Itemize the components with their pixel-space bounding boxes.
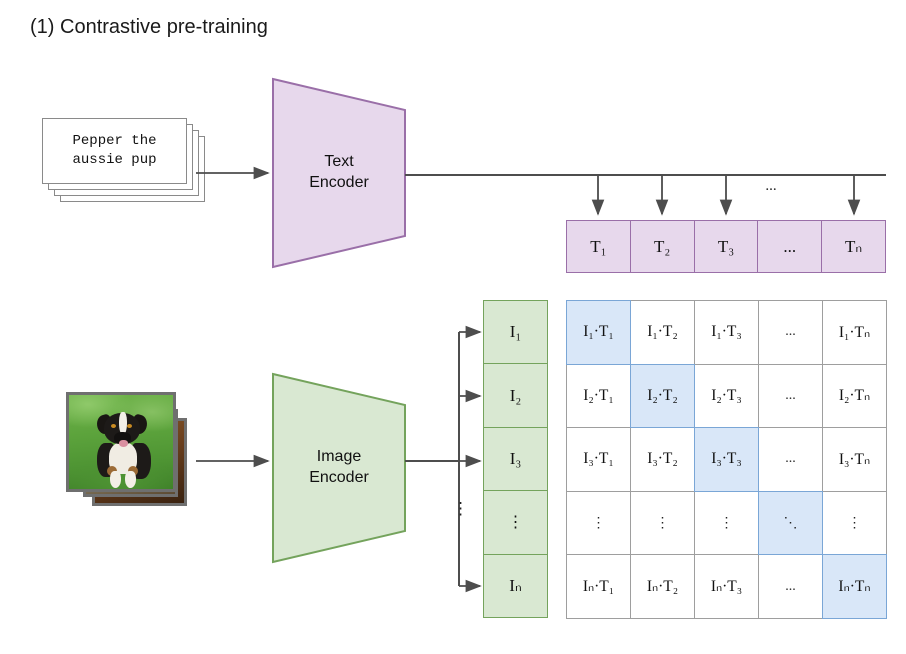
text-embedding-cell[interactable]: T₁ [566, 220, 631, 273]
similarity-cell-r4-c4[interactable]: ⋱ [758, 491, 823, 556]
text-card-front: Pepper theaussie pup [42, 118, 187, 184]
text-encoder-shape [271, 77, 407, 269]
caption-text: Pepper theaussie pup [72, 132, 156, 170]
similarity-cell-r5-c1[interactable]: Iₙ·T₁ [566, 554, 631, 619]
text-embeddings-row: T₁ T₂ T₃ ... Tₙ [566, 220, 886, 273]
image-embedding-cell[interactable]: ⋮ [483, 490, 548, 554]
similarity-cell-r5-c2[interactable]: Iₙ·T₂ [630, 554, 695, 619]
similarity-cell-r2-c5[interactable]: I₂·Tₙ [822, 364, 887, 429]
text-embedding-cell[interactable]: T₂ [630, 220, 695, 273]
puppy-paw-left [110, 471, 121, 488]
similarity-cell-r1-c3[interactable]: I₁·T₃ [694, 300, 759, 365]
similarity-cell-r1-c1[interactable]: I₁·T₁ [566, 300, 631, 365]
image-embedding-cell[interactable]: I₂ [483, 363, 548, 427]
text-embedding-cell[interactable]: T₃ [694, 220, 759, 273]
figure-title: (1) Contrastive pre-training [30, 14, 268, 40]
similarity-cell-r1-c2[interactable]: I₁·T₂ [630, 300, 695, 365]
similarity-cell-r2-c2[interactable]: I₂·T₂ [630, 364, 695, 429]
caption-line-1: Pepper the [72, 133, 156, 149]
image-encoder-block: Image Encoder [271, 372, 407, 564]
puppy-illustration [95, 409, 153, 491]
puppy-paw-right [125, 471, 136, 488]
similarity-cell-r5-c5[interactable]: Iₙ·Tₙ [822, 554, 887, 619]
similarity-cell-r2-c3[interactable]: I₂·T₃ [694, 364, 759, 429]
image-embedding-cell[interactable]: Iₙ [483, 554, 548, 618]
image-embedding-cell[interactable]: I₁ [483, 300, 548, 364]
similarity-cell-r3-c5[interactable]: I₃·Tₙ [822, 427, 887, 492]
similarity-cell-r5-c4[interactable]: ... [758, 554, 823, 619]
similarity-matrix: I₁·T₁I₁·T₂I₁·T₃...I₁·TₙI₂·T₁I₂·T₂I₂·T₃..… [566, 300, 886, 618]
similarity-cell-r4-c3[interactable]: ⋮ [694, 491, 759, 556]
photo-front-puppy [66, 392, 176, 492]
similarity-cell-r3-c3[interactable]: I₃·T₃ [694, 427, 759, 492]
text-caption-stack: Pepper theaussie pup [42, 118, 227, 203]
similarity-cell-r3-c2[interactable]: I₃·T₂ [630, 427, 695, 492]
contrastive-pretraining-figure: (1) Contrastive pre-training Pepper thea… [0, 0, 906, 654]
image-photo-stack [66, 392, 196, 507]
similarity-cell-r3-c1[interactable]: I₃·T₁ [566, 427, 631, 492]
similarity-cell-r1-c5[interactable]: I₁·Tₙ [822, 300, 887, 365]
similarity-cell-r4-c1[interactable]: ⋮ [566, 491, 631, 556]
similarity-cell-r2-c4[interactable]: ... [758, 364, 823, 429]
puppy-eye-left [111, 424, 116, 428]
caption-line-2: aussie pup [72, 152, 156, 168]
text-embedding-cell[interactable]: ... [757, 220, 822, 273]
image-embeddings-column: I₁ I₂ I₃ ⋮ Iₙ [483, 300, 548, 618]
similarity-cell-r3-c4[interactable]: ... [758, 427, 823, 492]
branch-ellipsis: ⋮ [452, 500, 468, 517]
similarity-cell-r4-c2[interactable]: ⋮ [630, 491, 695, 556]
similarity-cell-r4-c5[interactable]: ⋮ [822, 491, 887, 556]
image-embedding-cell[interactable]: I₃ [483, 427, 548, 491]
similarity-cell-r5-c3[interactable]: Iₙ·T₃ [694, 554, 759, 619]
top-arrows-ellipsis: ... [746, 178, 796, 195]
image-encoder-shape [271, 372, 407, 564]
puppy-tongue [119, 440, 128, 447]
similarity-cell-r2-c1[interactable]: I₂·T₁ [566, 364, 631, 429]
text-embedding-cell[interactable]: Tₙ [821, 220, 886, 273]
similarity-cell-r1-c4[interactable]: ... [758, 300, 823, 365]
puppy-eye-right [127, 424, 132, 428]
text-encoder-block: Text Encoder [271, 77, 407, 269]
